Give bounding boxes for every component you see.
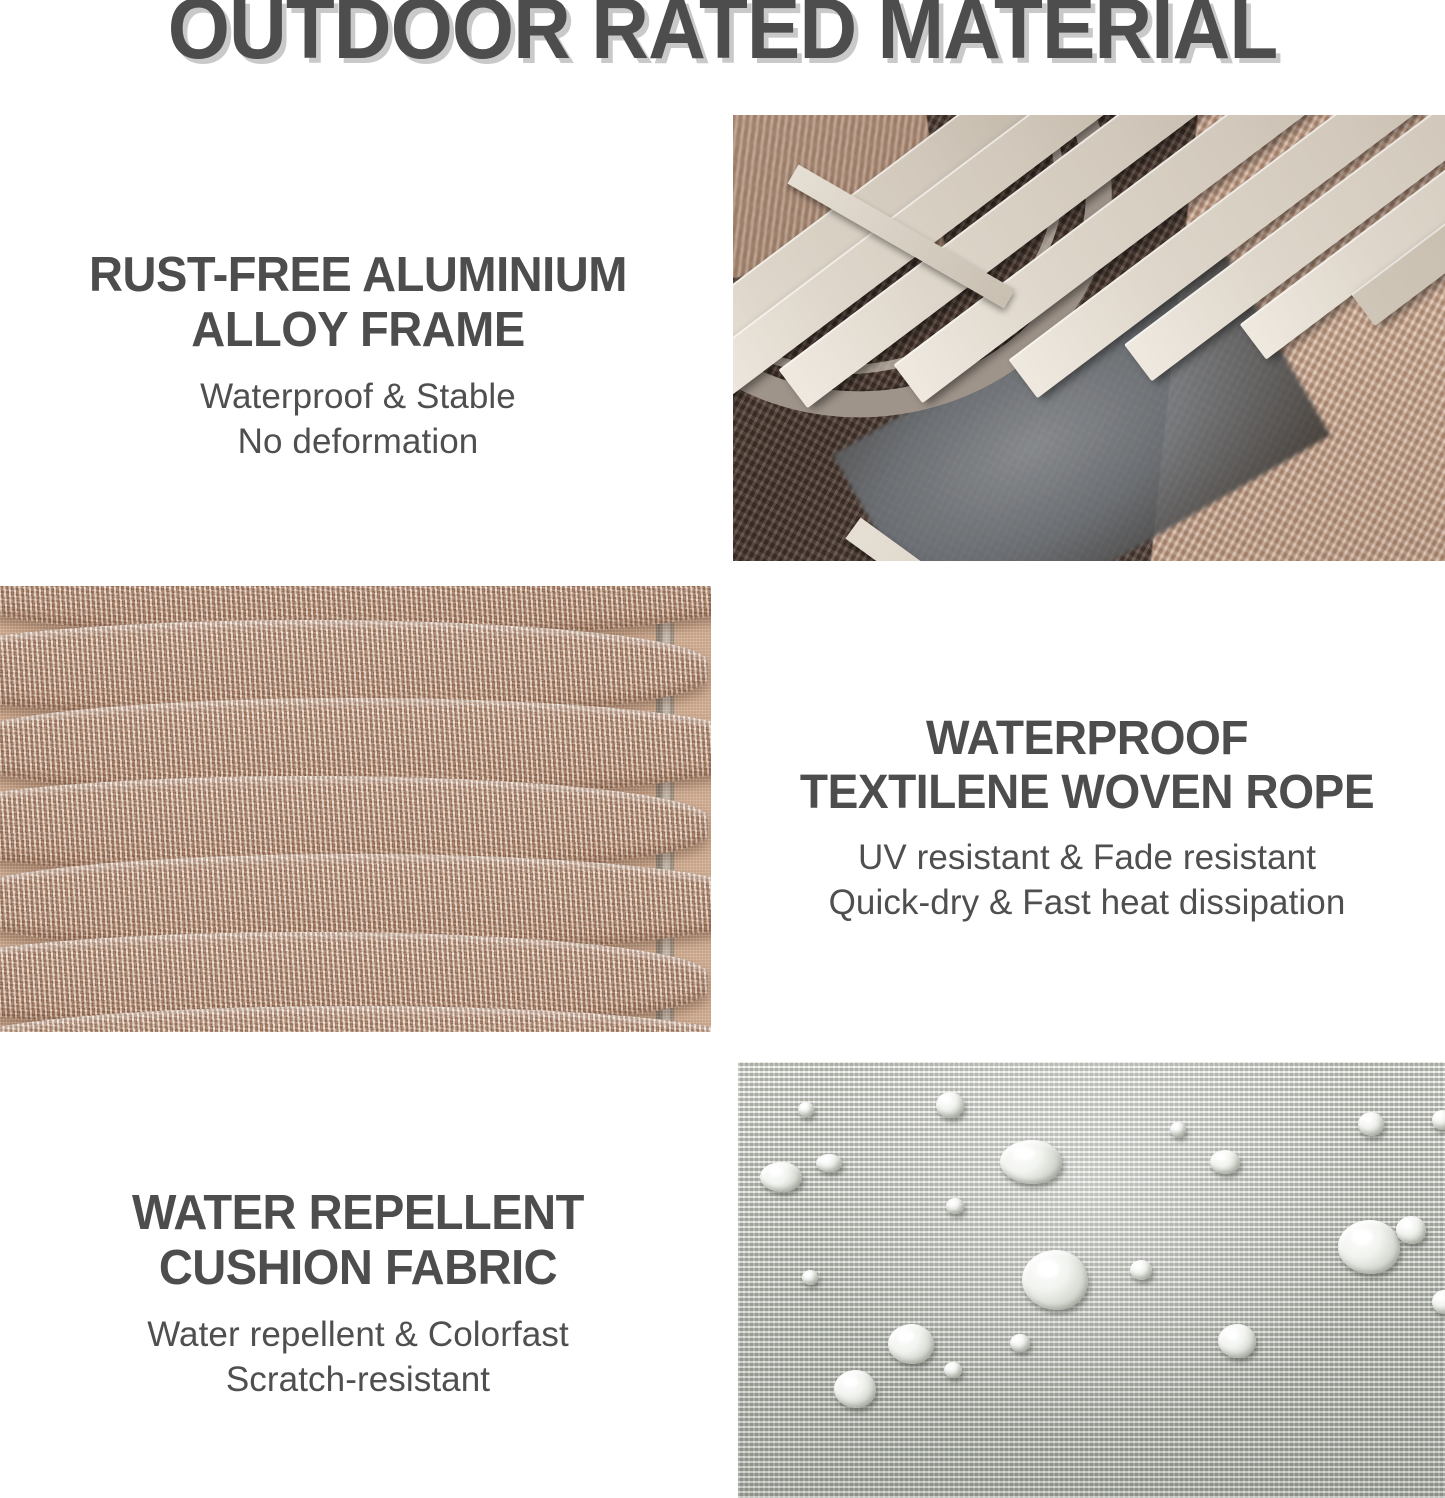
water-droplet xyxy=(1338,1220,1400,1274)
fabric-lighting-vignette xyxy=(738,1062,1445,1498)
feature-rope-headline: WATERPROOF TEXTILENE WOVEN ROPE xyxy=(743,712,1430,820)
water-droplet xyxy=(1130,1260,1152,1280)
water-droplet xyxy=(1358,1112,1384,1136)
feature-cushion-text: WATER REPELLENT CUSHION FABRIC Water rep… xyxy=(0,1186,716,1402)
feature-rope-subtext: UV resistant & Fade resistant Quick-dry … xyxy=(729,836,1445,926)
water-droplet xyxy=(816,1154,842,1172)
feature-cushion-subtext: Water repellent & Colorfast Scratch-resi… xyxy=(0,1313,716,1403)
infographic-page: OUTDOOR RATED MATERIAL RUST-FREE ALUMINI… xyxy=(0,0,1445,1498)
water-droplet xyxy=(946,1198,964,1214)
feature-frame-headline: RUST-FREE ALUMINIUM ALLOY FRAME xyxy=(14,248,701,359)
water-droplet xyxy=(936,1092,964,1118)
water-droplet xyxy=(944,1362,962,1378)
feature-cushion-headline: WATER REPELLENT CUSHION FABRIC xyxy=(14,1186,701,1297)
water-droplet xyxy=(1170,1122,1186,1137)
water-droplet xyxy=(760,1162,802,1192)
water-droplet xyxy=(888,1324,934,1364)
feature-frame-subtext: Waterproof & Stable No deformation xyxy=(0,375,716,465)
woven-rope-photo xyxy=(0,586,711,1032)
water-droplet xyxy=(834,1370,876,1408)
cushion-fabric-photo xyxy=(738,1062,1445,1498)
aluminium-frame-photo xyxy=(733,115,1445,561)
feature-rope-text: WATERPROOF TEXTILENE WOVEN ROPE UV resis… xyxy=(729,712,1445,926)
feature-frame-text: RUST-FREE ALUMINIUM ALLOY FRAME Waterpro… xyxy=(0,248,716,464)
water-droplet xyxy=(802,1270,818,1285)
water-droplet xyxy=(1396,1216,1426,1244)
page-title: OUTDOOR RATED MATERIAL xyxy=(51,0,1395,74)
water-droplet xyxy=(1022,1250,1088,1310)
water-droplet xyxy=(1010,1334,1030,1352)
water-droplet xyxy=(798,1102,814,1117)
water-droplet xyxy=(1218,1324,1256,1358)
water-droplet xyxy=(1000,1140,1062,1184)
water-droplet xyxy=(1210,1150,1240,1174)
